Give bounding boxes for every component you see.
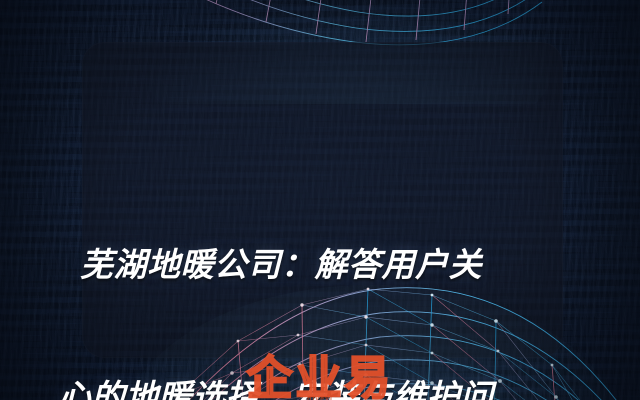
headline-line-1: 芜湖地暖公司：解答用户关 [58,243,598,287]
watermark-text: 企业易 [247,352,394,400]
watermark-logo: 企业易 qiyeyi [0,354,640,400]
banner-canvas: 芜湖地暖公司：解答用户关 心的地暖选择、安装与维护问 题，让您温暖又省心！ 企业… [0,0,640,400]
watermark-subtext: qiyeyi [0,396,640,400]
